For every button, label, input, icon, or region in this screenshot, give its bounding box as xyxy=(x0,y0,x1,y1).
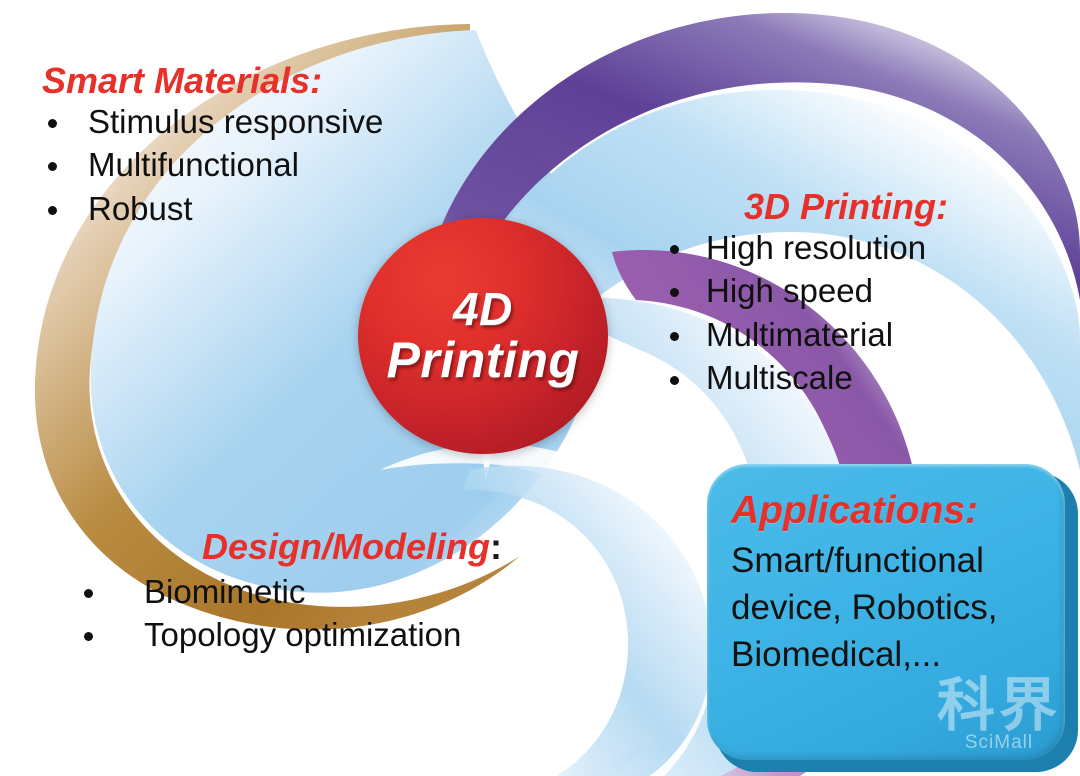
watermark: 科界 SciMall xyxy=(937,676,1061,754)
applications-line: device, Robotics, xyxy=(731,584,1043,631)
applications-panel-body: Applications: Smart/functional device, R… xyxy=(707,464,1065,760)
figure-canvas: 4D Printing Smart Materials: Stimulus re… xyxy=(0,0,1080,776)
bullet-list-3d-printing: High resolution High speed Multimaterial… xyxy=(664,226,948,400)
list-item: Multiscale xyxy=(664,356,948,400)
applications-line: Smart/functional xyxy=(731,537,1043,584)
applications-heading: Applications: xyxy=(731,490,1043,533)
center-badge: 4D Printing xyxy=(358,218,608,454)
block-3d-printing: 3D Printing: High resolution High speed … xyxy=(664,188,948,400)
list-item: Biomimetic xyxy=(78,570,502,614)
list-item: Stimulus responsive xyxy=(42,100,383,144)
applications-line: Biomedical,... xyxy=(731,631,1043,678)
center-badge-line2: Printing xyxy=(387,335,580,386)
watermark-cjk: 科界 xyxy=(937,676,1061,734)
list-item: Multifunctional xyxy=(42,143,383,187)
block-heading-design-modeling-colon: : xyxy=(490,526,502,567)
center-badge-line1: 4D xyxy=(453,286,513,333)
watermark-latin: SciMall xyxy=(937,732,1061,754)
block-heading-design-modeling-text: Design/Modeling xyxy=(202,526,490,567)
bullet-list-design-modeling: Biomimetic Topology optimization xyxy=(78,570,502,657)
list-item: High resolution xyxy=(664,226,948,270)
block-heading-design-modeling: Design/Modeling: xyxy=(78,528,502,566)
block-heading-smart-materials: Smart Materials: xyxy=(42,62,383,100)
block-heading-3d-printing: 3D Printing: xyxy=(664,188,948,226)
list-item: Robust xyxy=(42,187,383,231)
block-smart-materials: Smart Materials: Stimulus responsive Mul… xyxy=(42,62,383,230)
list-item: High speed xyxy=(664,269,948,313)
list-item: Multimaterial xyxy=(664,313,948,357)
block-design-modeling: Design/Modeling: Biomimetic Topology opt… xyxy=(78,528,502,657)
bullet-list-smart-materials: Stimulus responsive Multifunctional Robu… xyxy=(42,100,383,231)
list-item: Topology optimization xyxy=(78,613,502,657)
applications-panel: Applications: Smart/functional device, R… xyxy=(707,464,1078,772)
